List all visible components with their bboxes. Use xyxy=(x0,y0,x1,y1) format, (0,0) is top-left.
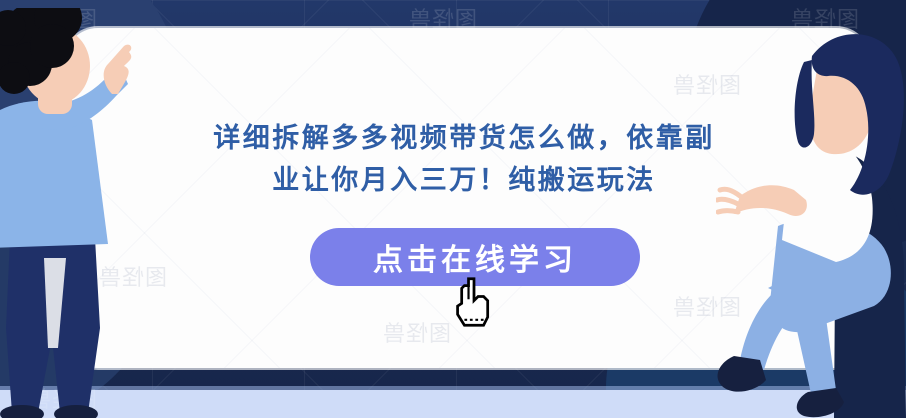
headline-line-2: 业让你月入三万！纯搬运玩法 xyxy=(168,160,760,202)
pointing-hand-cursor-icon xyxy=(452,276,496,328)
illustration-man xyxy=(0,8,150,418)
woman-shoe-back xyxy=(718,356,766,392)
illustration-woman xyxy=(716,30,906,418)
page-title: 详细拆解多多视频带货怎么做，依靠副 业让你月入三万！纯搬运玩法 xyxy=(168,118,760,202)
headline-line-1: 详细拆解多多视频带货怎么做，依靠副 xyxy=(168,118,760,160)
cursor-hand-shape xyxy=(458,279,488,326)
woman-hair-front xyxy=(795,60,815,148)
man-hand xyxy=(104,45,132,94)
promo-banner: 图怪兽 图怪兽 图怪兽 图怪兽 图怪兽 图怪兽 图怪兽 图怪兽 xyxy=(0,0,906,418)
